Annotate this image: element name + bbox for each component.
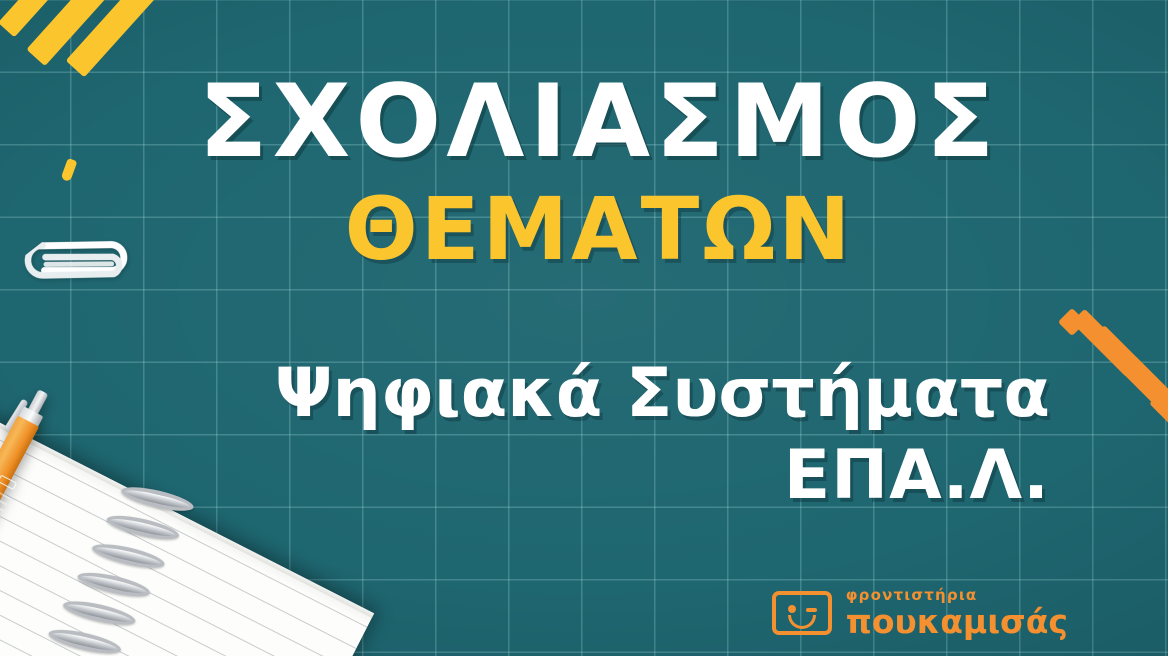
eye-open-icon	[788, 605, 796, 613]
spiral-ring	[61, 596, 137, 629]
eye-winking-icon	[806, 608, 817, 612]
diagonal-stripes-icon	[1040, 300, 1168, 460]
paperclip-icon	[11, 199, 159, 346]
course-title-block: Ψηφιακά Συστήματα ΕΠΑ.Λ.	[275, 360, 1050, 510]
brand-name: πουκαμισάς	[846, 605, 1068, 638]
brand-logo: φροντιστήρια πουκαμισάς	[772, 588, 1068, 638]
spiral-ring	[105, 511, 181, 544]
stripe-fleck	[61, 158, 78, 182]
pen-logo-icon	[0, 475, 17, 491]
diagonal-stripes-icon	[0, 0, 176, 124]
stripe-bar	[1149, 389, 1168, 472]
smile-icon	[788, 615, 816, 629]
spiral-ring	[119, 482, 195, 515]
course-subject: Ψηφιακά Συστήματα	[275, 360, 1050, 428]
brand-tagline: φροντιστήρια	[846, 588, 1068, 603]
headline-line-2: ΘΕΜΑΤΩΝ	[0, 187, 1168, 275]
course-level: ΕΠΑ.Λ.	[275, 442, 1050, 510]
spiral-ring	[47, 625, 123, 656]
spiral-ring	[90, 539, 166, 572]
slide-canvas: ΣΧΟΛΙΑΣΜΟΣ ΘΕΜΑΤΩΝ Ψηφιακά Συστήματα ΕΠΑ…	[0, 0, 1168, 656]
smiley-screen-icon	[772, 591, 832, 635]
spiral-ring	[76, 568, 152, 601]
brand-text-block: φροντιστήρια πουκαμισάς	[846, 588, 1068, 638]
